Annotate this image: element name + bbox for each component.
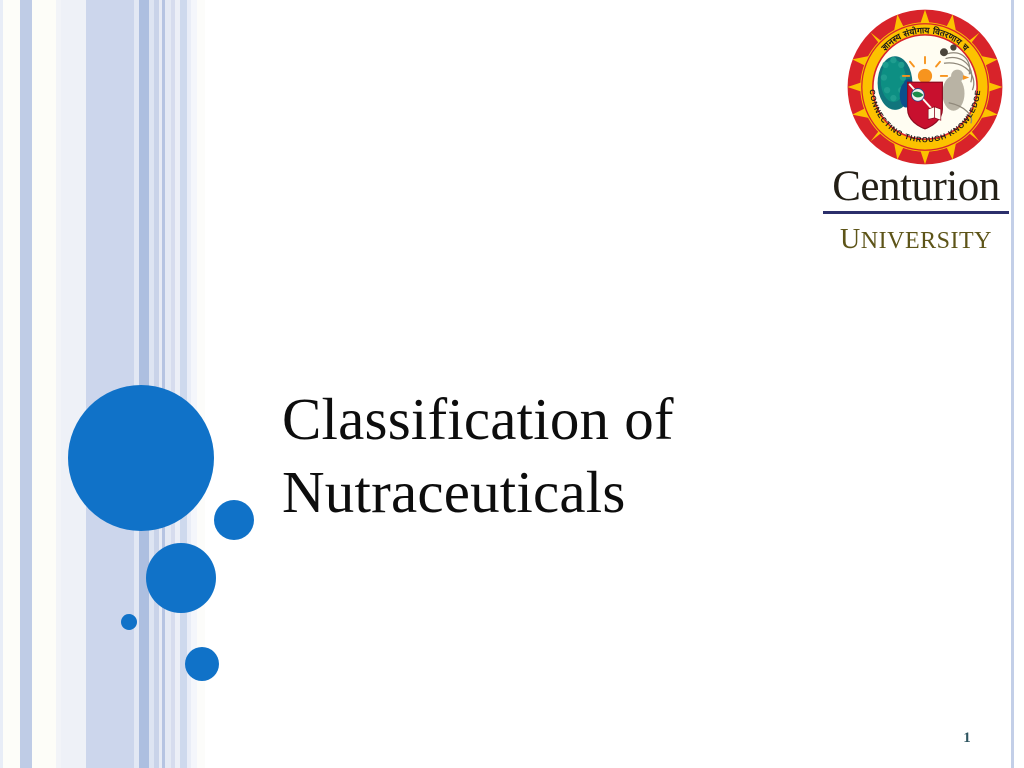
logo-name-text: Centurion	[818, 164, 1014, 210]
logo-wordmark: Centurion University	[818, 164, 1014, 256]
stripe-8	[139, 0, 149, 768]
stripe-1	[3, 0, 20, 768]
stripe-16	[180, 0, 187, 768]
left-stripe-decoration	[0, 0, 205, 768]
centurion-university-emblem-icon: ज्ञानस्य संयोगाय वितरणाय च	[846, 8, 1004, 166]
stripe-3	[32, 0, 56, 768]
circle-large	[68, 385, 214, 531]
logo-subtitle-text: University	[818, 216, 1014, 256]
page-title: Classification of Nutraceuticals	[282, 383, 902, 529]
stripe-5	[61, 0, 86, 768]
university-logo: ज्ञानस्य संयोगाय वितरणाय च	[818, 8, 1014, 248]
shield-icon	[908, 82, 943, 129]
circle-small-bottom	[185, 647, 219, 681]
stripe-2	[20, 0, 32, 768]
presentation-slide: Classification of Nutraceuticals	[0, 0, 1024, 768]
circle-small-right	[214, 500, 254, 540]
circle-tiny-left	[121, 614, 137, 630]
circle-medium	[146, 543, 216, 613]
page-number: 1	[955, 730, 979, 747]
stripe-6	[86, 0, 134, 768]
